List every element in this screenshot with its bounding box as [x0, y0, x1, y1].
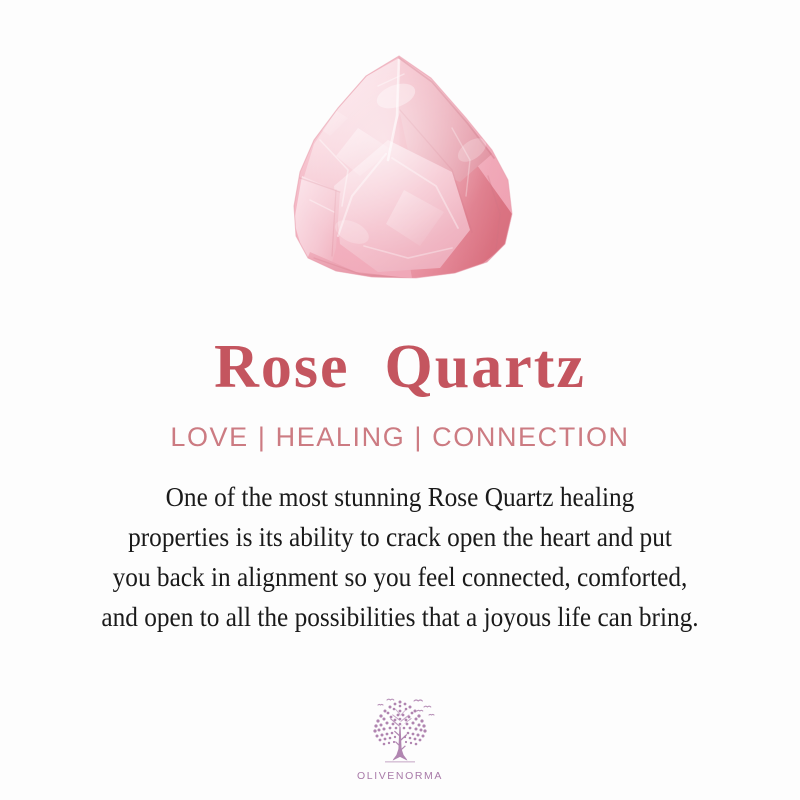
rose-quartz-crystal-icon	[0, 0, 800, 300]
description-line: One of the most stunning Rose Quartz hea…	[50, 477, 749, 517]
page-title: Rose Quartz	[214, 336, 586, 398]
description-line: you back in alignment so you feel connec…	[50, 557, 749, 597]
tree-of-life-icon	[354, 693, 446, 767]
product-image-container	[0, 0, 800, 300]
product-info-card: Rose Quartz LOVE | HEALING | CONNECTION …	[0, 0, 800, 800]
product-description: One of the most stunning Rose Quartz hea…	[20, 477, 780, 637]
description-line: and open to all the possibilities that a…	[50, 597, 749, 637]
description-line: properties is its ability to crack open …	[50, 517, 749, 557]
brand-name: OLIVENORMA	[357, 770, 443, 782]
brand-logo: OLIVENORMA	[0, 693, 800, 782]
product-keywords: LOVE | HEALING | CONNECTION	[170, 424, 629, 451]
